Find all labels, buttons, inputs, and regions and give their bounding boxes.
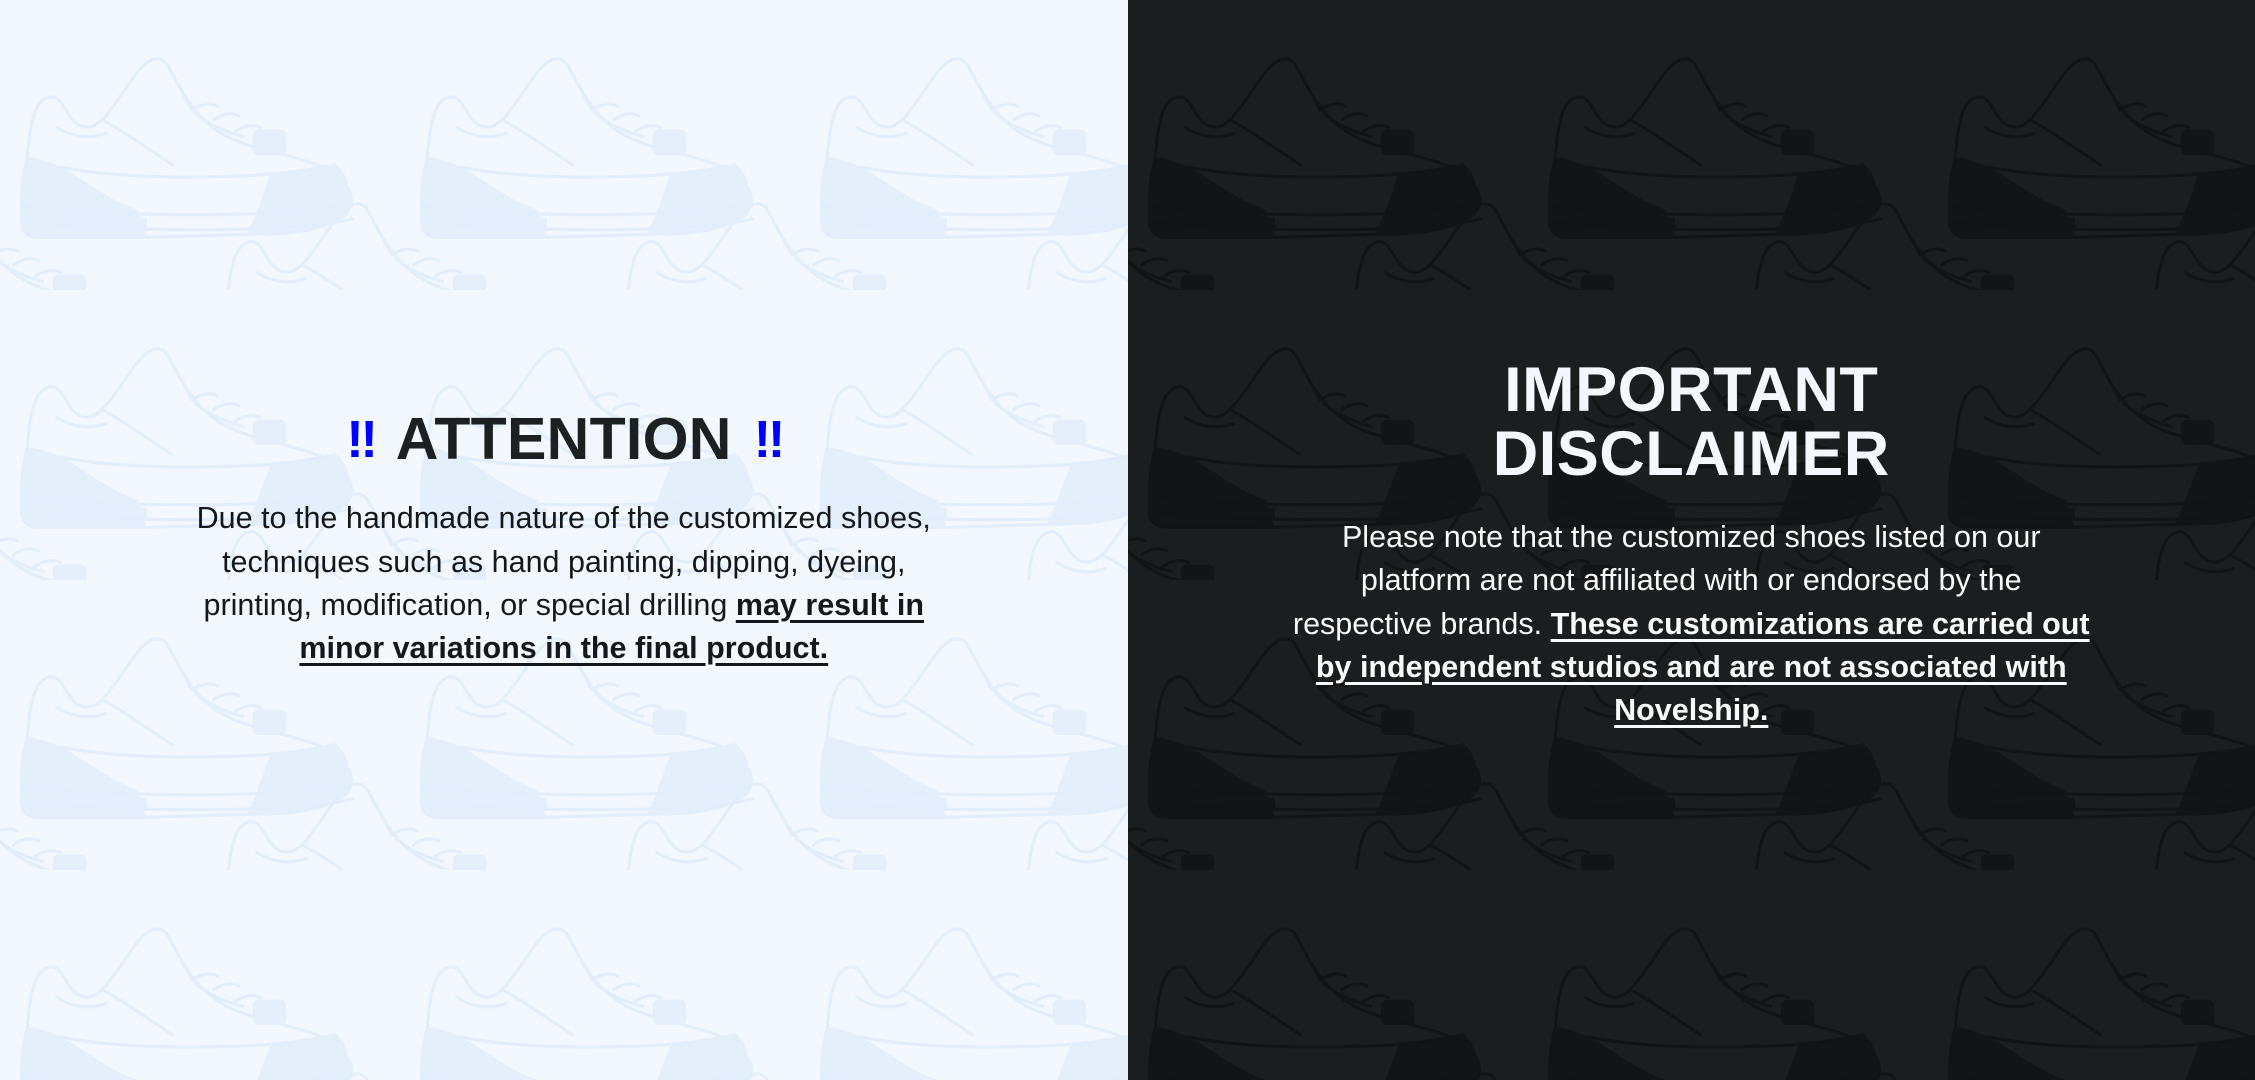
attention-panel: ‼ATTENTION‼ Due to the handmade nature o… (0, 0, 1128, 1080)
disclaimer-body: Please note that the customized shoes li… (1291, 516, 2091, 732)
attention-content: ‼ATTENTION‼ Due to the handmade nature o… (0, 409, 1128, 670)
double-exclamation-icon-right: ‼ (754, 413, 781, 468)
double-exclamation-icon-left: ‼ (346, 413, 373, 468)
disclaimer-headline-line-1: IMPORTANT (1168, 358, 2216, 422)
disclaimer-headline: IMPORTANT DISCLAIMER (1168, 358, 2216, 487)
disclaimer-headline-line-2: DISCLAIMER (1168, 422, 2216, 486)
attention-body: Due to the handmade nature of the custom… (164, 497, 964, 670)
disclaimer-content: IMPORTANT DISCLAIMER Please note that th… (1128, 348, 2255, 733)
attention-headline-text: ATTENTION (396, 406, 732, 472)
disclaimer-panel: IMPORTANT DISCLAIMER Please note that th… (1128, 0, 2255, 1080)
attention-headline: ‼ATTENTION‼ (40, 409, 1088, 471)
disclaimer-banner: ‼ATTENTION‼ Due to the handmade nature o… (0, 0, 2255, 1080)
